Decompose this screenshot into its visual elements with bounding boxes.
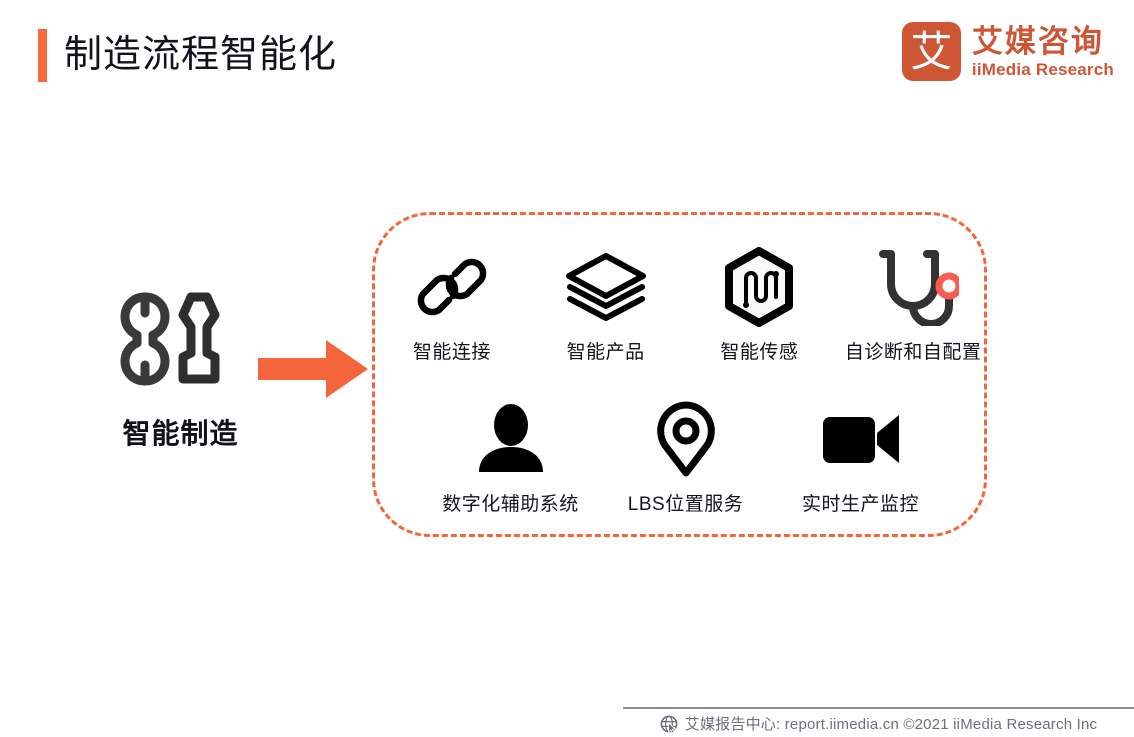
brand-name-cn: 艾媒咨询 [972, 24, 1114, 59]
stethoscope-icon [867, 249, 959, 325]
capability-label: 智能连接 [413, 341, 491, 365]
hexagon-sensor-icon [721, 249, 797, 325]
title-accent-bar [38, 29, 47, 82]
source-node: 智能制造 [108, 275, 253, 451]
brand-name-en: iiMedia Research [972, 60, 1114, 80]
capability-item-smart-sensing[interactable]: 智能传感 [683, 249, 837, 365]
globe-cursor-icon [660, 715, 679, 734]
capability-label: 数字化辅助系统 [442, 493, 579, 517]
capability-item-digital-assist[interactable]: 数字化辅助系统 [423, 401, 598, 517]
brand-mark-icon: 艾 [902, 22, 961, 81]
footer-text: 艾媒报告中心: report.iimedia.cn ©2021 iiMedia … [685, 714, 1097, 736]
footer-divider [623, 707, 1134, 709]
brand-mark-glyph: 艾 [910, 30, 952, 74]
capability-label: 智能产品 [567, 341, 645, 365]
brand-logo: 艾 艾媒咨询 iiMedia Research [902, 22, 1114, 81]
layers-stack-icon [563, 249, 649, 325]
capability-row-top: 智能连接 智能产品 智能传感 [375, 249, 990, 365]
capability-panel: 智能连接 智能产品 智能传感 [372, 212, 987, 537]
capability-row-bottom: 数字化辅助系统 LBS位置服务 实时生产监控 [423, 401, 948, 517]
video-camera-icon [821, 401, 901, 477]
source-node-label: 智能制造 [108, 417, 253, 451]
chain-link-icon [415, 249, 489, 325]
person-silhouette-icon [475, 401, 547, 477]
capability-label: 实时生产监控 [802, 493, 919, 517]
tools-wrench-screwdriver-icon [117, 275, 245, 403]
capability-item-smart-connection[interactable]: 智能连接 [375, 249, 529, 365]
page-title: 制造流程智能化 [64, 28, 337, 82]
brand-text: 艾媒咨询 iiMedia Research [972, 24, 1114, 80]
capability-item-smart-product[interactable]: 智能产品 [529, 249, 683, 365]
capability-item-self-diagnosis[interactable]: 自诊断和自配置 [836, 249, 990, 365]
capability-label: 智能传感 [720, 341, 798, 365]
capability-label: 自诊断和自配置 [845, 341, 982, 365]
capability-item-lbs-service[interactable]: LBS位置服务 [598, 401, 773, 517]
right-arrow-icon [258, 338, 370, 400]
location-pin-icon [653, 401, 719, 477]
page-header: 制造流程智能化 艾 艾媒咨询 iiMedia Research [0, 0, 1134, 110]
capability-label: LBS位置服务 [628, 493, 743, 517]
capability-item-realtime-monitor[interactable]: 实时生产监控 [773, 401, 948, 517]
page-footer: 艾媒报告中心: report.iimedia.cn ©2021 iiMedia … [623, 712, 1134, 737]
